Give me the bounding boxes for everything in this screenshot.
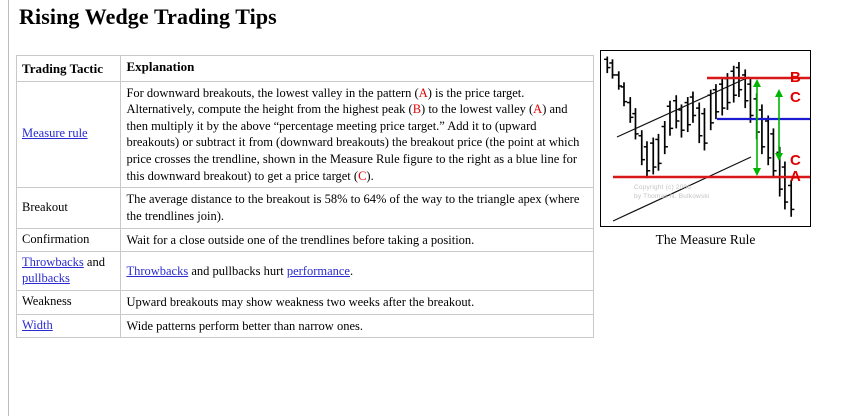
table-row: WidthWide patterns perform better than n… bbox=[17, 314, 594, 338]
cell-trading-tactic: Measure rule bbox=[17, 81, 121, 188]
table-row: ConfirmationWait for a close outside one… bbox=[17, 228, 594, 252]
chart-label-a: A bbox=[790, 168, 801, 185]
full-height-arrow-head-up bbox=[753, 79, 761, 87]
full-height-arrow-head-down bbox=[753, 168, 761, 176]
table-row: WeaknessUpward breakouts may show weakne… bbox=[17, 290, 594, 314]
page-canvas: Rising Wedge Trading Tips Trading Tactic… bbox=[0, 0, 841, 416]
column-header-explanation: Explanation bbox=[121, 56, 594, 82]
table-body: Measure ruleFor downward breakouts, the … bbox=[17, 81, 594, 338]
table-row: BreakoutThe average distance to the brea… bbox=[17, 188, 594, 228]
cell-explanation: Upward breakouts may show weakness two w… bbox=[121, 290, 594, 314]
link-performance[interactable]: performance bbox=[287, 264, 350, 278]
chart-label-b: B bbox=[790, 69, 801, 86]
target-arrow-head-up bbox=[775, 89, 783, 97]
chart-label-c-upper: C bbox=[790, 89, 801, 106]
measure-rule-figure: B C C A Copyright (c) 2006 by Thomas N. … bbox=[600, 50, 811, 248]
link-pullbacks[interactable]: pullbacks bbox=[22, 271, 70, 285]
cell-explanation: Wait for a close outside one of the tren… bbox=[121, 228, 594, 252]
target-arrow-head-down bbox=[775, 153, 783, 161]
link-width[interactable]: Width bbox=[22, 318, 53, 332]
link-throwbacks[interactable]: Throwbacks bbox=[22, 255, 84, 269]
trading-tips-table: Trading Tactic Explanation Measure ruleF… bbox=[16, 55, 594, 338]
cell-trading-tactic: Breakout bbox=[17, 188, 121, 228]
table-row: Measure ruleFor downward breakouts, the … bbox=[17, 81, 594, 188]
page-left-rule bbox=[8, 0, 9, 416]
table-header-row: Trading Tactic Explanation bbox=[17, 56, 594, 82]
cell-trading-tactic: Weakness bbox=[17, 290, 121, 314]
cell-trading-tactic: Width bbox=[17, 314, 121, 338]
table-row: Throwbacks and pullbacksThrowbacks and p… bbox=[17, 252, 594, 291]
cell-trading-tactic: Confirmation bbox=[17, 228, 121, 252]
cell-explanation: Throwbacks and pullbacks hurt performanc… bbox=[121, 252, 594, 291]
column-header-trading-tactic: Trading Tactic bbox=[17, 56, 121, 82]
measure-rule-chart: B C C A Copyright (c) 2006 by Thomas N. … bbox=[600, 50, 811, 227]
link-throwbacks-body[interactable]: Throwbacks bbox=[126, 264, 188, 278]
page-title: Rising Wedge Trading Tips bbox=[19, 4, 277, 30]
chart-label-c-lower: C bbox=[790, 152, 801, 169]
link-measure-rule[interactable]: Measure rule bbox=[22, 126, 88, 140]
chart-copyright: Copyright (c) 2006 by Thomas N. Bulkowsk… bbox=[634, 183, 709, 203]
cell-explanation: For downward breakouts, the lowest valle… bbox=[121, 81, 594, 188]
cell-explanation: Wide patterns perform better than narrow… bbox=[121, 314, 594, 338]
figure-caption: The Measure Rule bbox=[600, 232, 811, 248]
upper-trendline bbox=[617, 77, 749, 137]
cell-trading-tactic: Throwbacks and pullbacks bbox=[17, 252, 121, 291]
cell-explanation: The average distance to the breakout is … bbox=[121, 188, 594, 228]
